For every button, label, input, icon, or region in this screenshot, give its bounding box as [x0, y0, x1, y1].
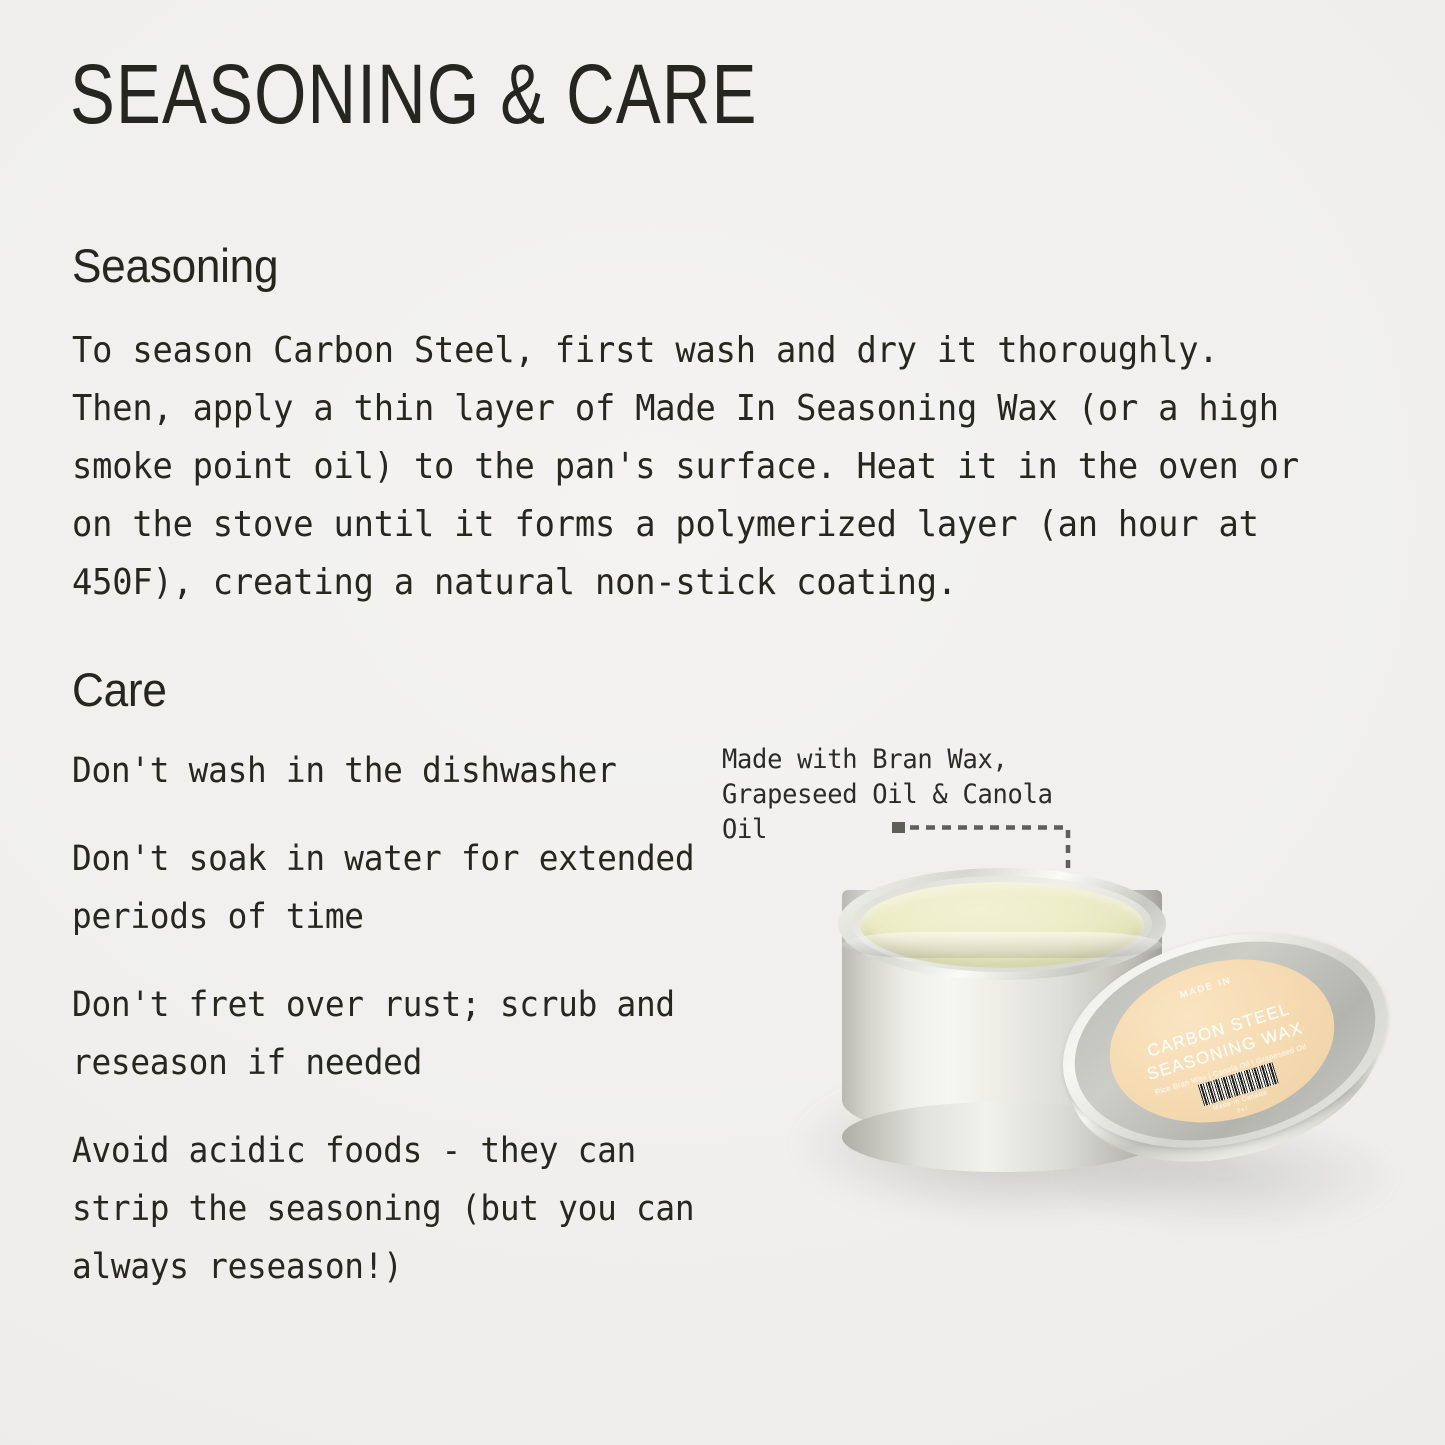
section-heading-care: Care	[72, 662, 167, 717]
seasoning-body-text: To season Carbon Steel, first wash and d…	[72, 322, 1317, 612]
list-item: Don't fret over rust; scrub and reseason…	[72, 976, 699, 1092]
list-item: Avoid acidic foods - they can strip the …	[72, 1122, 699, 1296]
section-heading-seasoning: Seasoning	[72, 238, 278, 293]
seasoning-and-care-page: SEASONING & CARE Seasoning To season Car…	[0, 0, 1445, 1445]
care-instructions-list: Don't wash in the dishwasher Don't soak …	[72, 742, 732, 1296]
list-item: Don't wash in the dishwasher	[72, 742, 699, 800]
page-title: SEASONING & CARE	[70, 52, 758, 136]
seasoning-wax-product-image: MADE IN CARBON STEEL SEASONING WAX Rice …	[760, 820, 1420, 1290]
list-item: Don't soak in water for extended periods…	[72, 830, 699, 946]
tin-lid: MADE IN CARBON STEEL SEASONING WAX Rice …	[1060, 928, 1390, 1178]
